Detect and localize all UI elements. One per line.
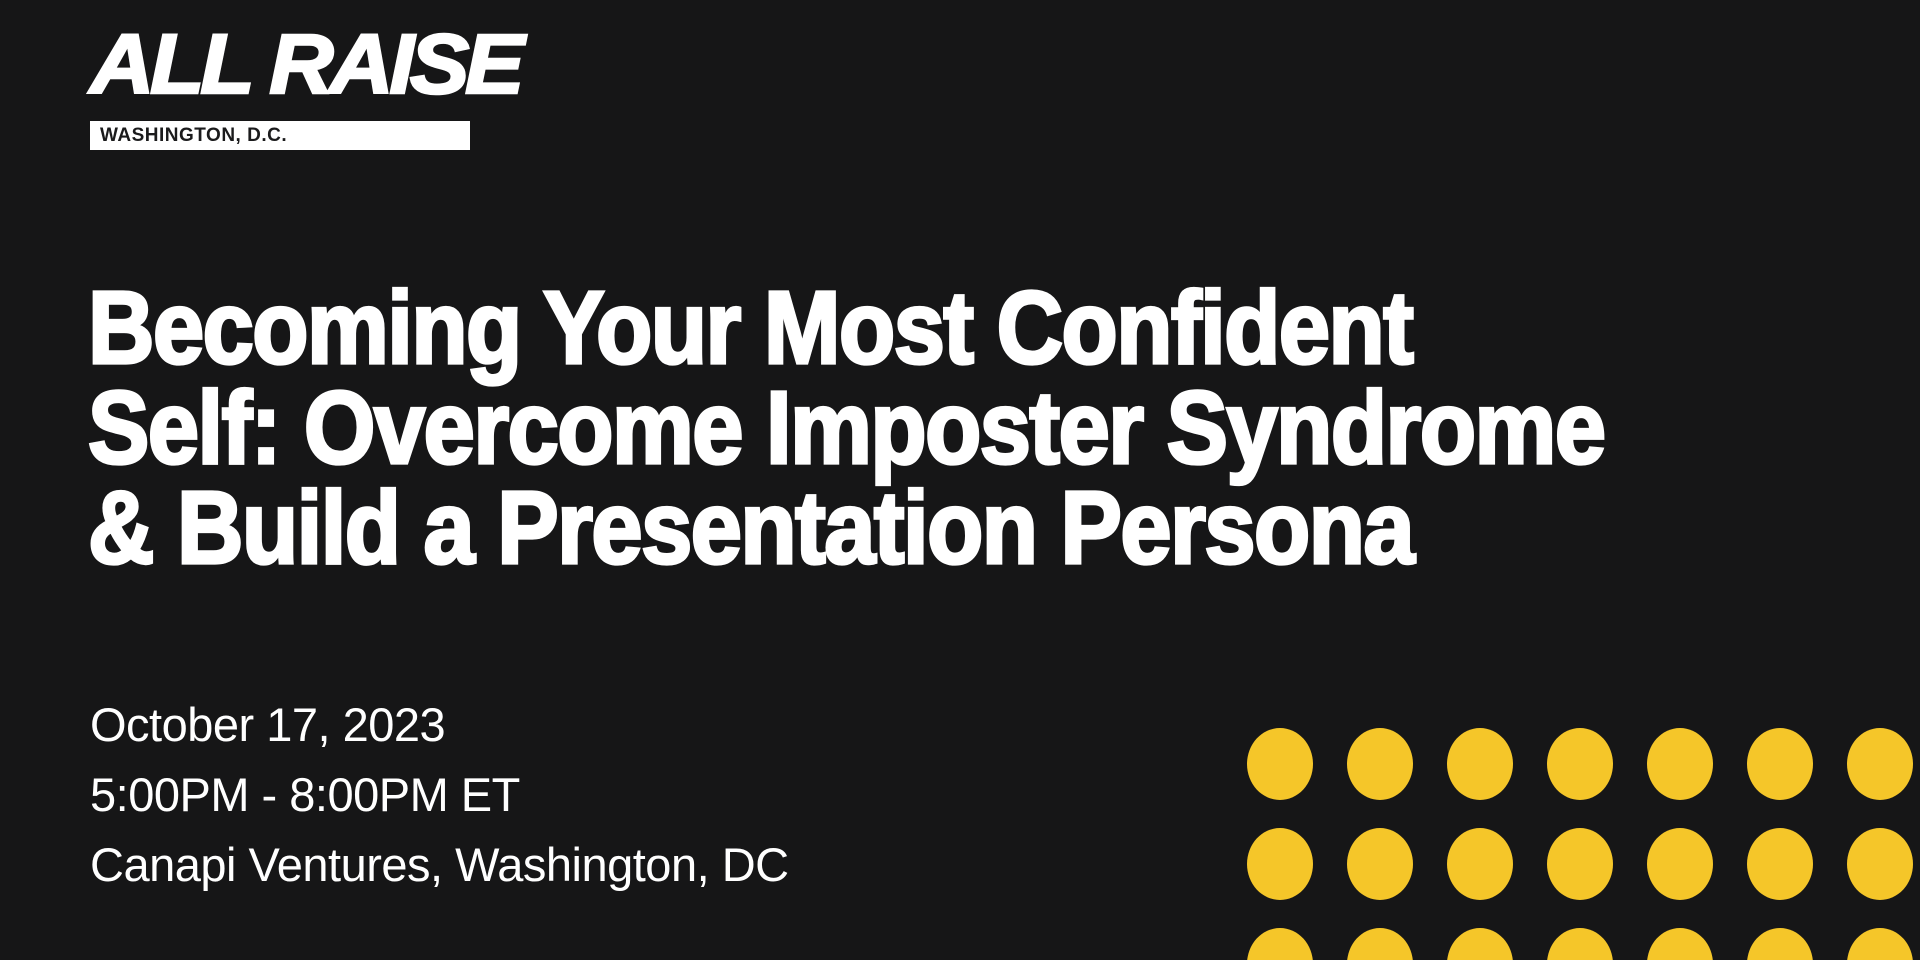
dot — [1847, 928, 1913, 960]
logo-chapter-label: WASHINGTON, D.C. — [90, 125, 287, 147]
dot — [1447, 928, 1513, 960]
event-date: October 17, 2023 — [90, 690, 789, 760]
dot — [1647, 928, 1713, 960]
dot — [1347, 828, 1413, 900]
dot — [1547, 828, 1613, 900]
dot — [1247, 828, 1313, 900]
dot — [1747, 928, 1813, 960]
dot — [1847, 828, 1913, 900]
dot — [1247, 728, 1313, 800]
event-title: Becoming Your Most Confident Self: Overc… — [88, 277, 1888, 577]
event-title-line-2: Self: Overcome Imposter Syndrome — [88, 377, 1888, 480]
dot — [1447, 828, 1513, 900]
dot — [1647, 728, 1713, 800]
dot — [1347, 928, 1413, 960]
logo-wordmark: ALL RAISE — [90, 26, 493, 103]
event-location: Canapi Ventures, Washington, DC — [90, 830, 789, 900]
dot — [1247, 928, 1313, 960]
dot — [1747, 828, 1813, 900]
dot — [1547, 928, 1613, 960]
dot-pattern-decoration — [1212, 714, 1920, 960]
dot — [1347, 728, 1413, 800]
logo-chapter-bar: WASHINGTON, D.C. — [90, 121, 470, 150]
dot — [1847, 728, 1913, 800]
dot — [1747, 728, 1813, 800]
all-raise-logo: ALL RAISE WASHINGTON, D.C. — [90, 26, 470, 150]
event-title-line-1: Becoming Your Most Confident — [88, 277, 1888, 380]
event-title-line-3: & Build a Presentation Persona — [88, 477, 1888, 580]
dot — [1447, 728, 1513, 800]
dot — [1547, 728, 1613, 800]
event-time: 5:00PM - 8:00PM ET — [90, 760, 789, 830]
event-details: October 17, 2023 5:00PM - 8:00PM ET Cana… — [90, 690, 789, 900]
event-banner: ALL RAISE WASHINGTON, D.C. Becoming Your… — [0, 0, 1920, 960]
dot — [1647, 828, 1713, 900]
